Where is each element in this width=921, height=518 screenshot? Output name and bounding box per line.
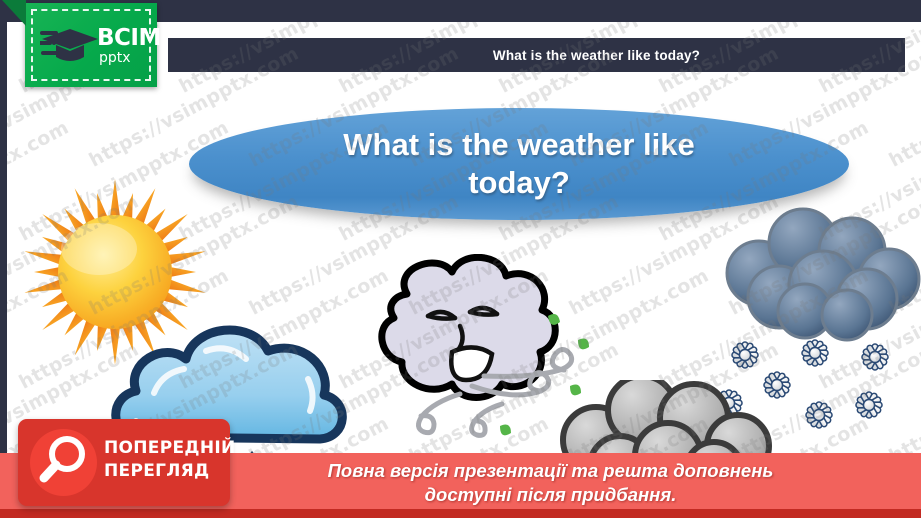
graduation-cap-icon	[40, 25, 100, 67]
preview-badge[interactable]: ПОПЕРЕДНІЙ ПЕРЕГЛЯД	[18, 419, 230, 506]
slide-title-shape: What is the weather like today?	[189, 108, 849, 220]
slide-header-bar: What is the weather like today?	[168, 38, 905, 72]
logo-fold	[2, 0, 26, 26]
magnifier-icon	[30, 429, 97, 496]
site-logo[interactable]: ВСІМ pptx	[25, 3, 157, 87]
slide-header-title: What is the weather like today?	[493, 48, 700, 63]
watermark-text: https://vsimpptx.com	[726, 22, 921, 24]
slide-title-text: What is the weather like today?	[304, 126, 734, 202]
logo-sub-text: pptx	[99, 50, 131, 66]
watermark-text: https://vsimpptx.com	[886, 22, 921, 24]
slide-viewer: What is the weather like today? https://…	[0, 0, 921, 518]
preview-badge-text: ПОПЕРЕДНІЙ ПЕРЕГЛЯД	[104, 437, 236, 482]
logo-brand-text: ВСІМ	[97, 25, 161, 51]
watermark-text: https://vsimpptx.com	[246, 22, 463, 24]
watermark-text: https://vsimpptx.com	[406, 22, 623, 24]
watermark-text: https://vsimpptx.com	[566, 22, 783, 24]
purchase-banner-text: Повна версія презентації та решта доповн…	[328, 459, 774, 506]
